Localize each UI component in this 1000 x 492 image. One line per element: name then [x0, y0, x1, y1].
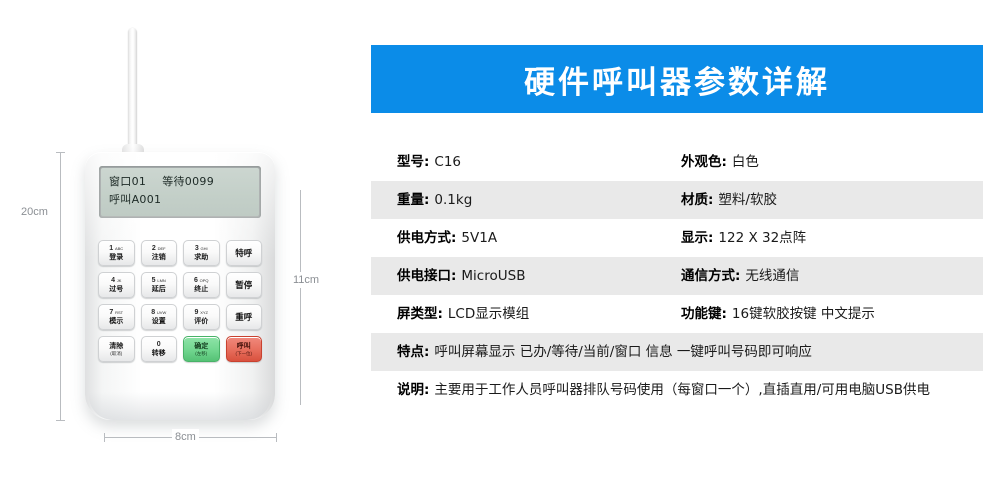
spec-cell-material: 材质:塑料/软胶: [667, 190, 983, 210]
key-letters: UVW: [157, 310, 166, 315]
key-number: 2: [152, 245, 156, 252]
key-top-row: 1 ABC: [109, 245, 123, 253]
table-row: 屏类型:LCD显示模组 功能键:16键软胶按键 中文提示: [371, 295, 983, 333]
spec-key: 外观色: [681, 152, 722, 172]
spec-title-bar: 硬件呼叫器参数详解: [371, 45, 983, 113]
key-label: 设置: [152, 317, 166, 326]
key-confirm[interactable]: 确定 (左移): [183, 336, 220, 362]
page-title: 硬件呼叫器参数详解: [524, 57, 830, 102]
key-number: 3: [195, 245, 199, 252]
table-row: 供电接口:MicroUSB 通信方式:无线通信: [371, 257, 983, 295]
key-0-transfer[interactable]: 0 转移: [141, 336, 178, 362]
key-label: 确定: [194, 342, 208, 351]
dim-depth-line: [300, 190, 301, 405]
key-clear-cancel[interactable]: 清除 (取消): [98, 336, 135, 362]
spec-value: MicroUSB: [461, 266, 525, 286]
key-pause[interactable]: 暂停: [226, 272, 263, 298]
dim-depth-label: 11cm: [290, 272, 322, 288]
spec-cell-power-port: 供电接口:MicroUSB: [371, 266, 667, 286]
key-label: 注销: [152, 253, 166, 262]
spec-cell-model: 型号:C16: [371, 152, 667, 172]
lcd-line-1: 窗口01 等待0099: [109, 173, 251, 191]
key-call-next[interactable]: 呼叫 (下一位): [226, 336, 263, 362]
lcd-waiting-label: 等待0099: [162, 173, 214, 191]
lcd-line-2: 呼叫A001: [109, 191, 251, 209]
spec-colon: :: [438, 304, 443, 324]
spec-colon: :: [735, 266, 740, 286]
dim-height-line: [60, 152, 61, 420]
key-top-row: 6 OPQ: [194, 277, 209, 285]
key-label: 评价: [194, 317, 208, 326]
spec-value: 5V1A: [461, 228, 497, 248]
spec-panel: 硬件呼叫器参数详解 型号:C16 外观色:白色 重量:0.1kg 材质:塑料/软…: [371, 0, 985, 492]
dim-width-cap-right: [276, 433, 277, 442]
key-label: 特呼: [235, 248, 252, 259]
key-top-row: 0: [157, 341, 161, 349]
table-row: 型号:C16 外观色:白色: [371, 143, 983, 181]
spec-colon: :: [708, 228, 713, 248]
key-3-help[interactable]: 3 GHI 求助: [183, 240, 220, 266]
dim-height-cap-bottom: [56, 420, 65, 421]
key-number: 9: [195, 309, 199, 316]
key-number: 8: [151, 309, 155, 316]
key-top-row: 4 JK: [111, 277, 121, 285]
lcd-calling-label: 呼叫A001: [109, 191, 161, 209]
spec-colon: :: [722, 304, 727, 324]
key-label: 暂停: [235, 280, 252, 291]
spec-key: 供电接口: [397, 266, 451, 286]
spec-value: C16: [434, 152, 461, 172]
key-number: 7: [109, 309, 113, 316]
key-label: 求助: [194, 253, 208, 262]
spec-cell-function-keys: 功能键:16键软胶按键 中文提示: [667, 304, 983, 324]
key-letters: GHI: [201, 246, 208, 251]
key-number: 5: [152, 277, 156, 284]
spec-value: 无线通信: [745, 266, 799, 286]
key-letters: OPQ: [200, 278, 209, 283]
key-number: 4: [111, 277, 115, 284]
spec-key: 重量: [397, 190, 424, 210]
key-8-settings[interactable]: 8 UVW 设置: [141, 304, 178, 330]
key-label: 呼叫: [237, 342, 251, 351]
key-special-call[interactable]: 特呼: [226, 240, 263, 266]
spec-colon: :: [451, 228, 456, 248]
spec-colon: :: [424, 152, 429, 172]
spec-value: 122 X 32点阵: [718, 228, 806, 248]
spec-key: 通信方式: [681, 266, 735, 286]
spec-cell-power-mode: 供电方式:5V1A: [371, 228, 667, 248]
spec-key: 材质: [681, 190, 708, 210]
key-sublabel: (左移): [195, 351, 207, 357]
spec-value: 呼叫屏幕显示 已办/等待/当前/窗口 信息 一键呼叫号码即可响应: [434, 342, 812, 362]
spec-value: 塑料/软胶: [718, 190, 777, 210]
key-sublabel: (下一位): [236, 351, 253, 357]
key-label: 登录: [109, 253, 123, 262]
spec-value: 白色: [732, 152, 759, 172]
spec-colon: :: [424, 342, 429, 362]
spec-key: 说明: [397, 380, 424, 400]
key-top-row: 7 RST: [109, 309, 123, 317]
table-row: 特点:呼叫屏幕显示 已办/等待/当前/窗口 信息 一键呼叫号码即可响应: [371, 333, 983, 371]
key-label: 终止: [194, 285, 208, 294]
spec-value: 主要用于工作人员呼叫器排队号码使用（每窗口一个）,直插直用/可用电脑USB供电: [434, 380, 930, 400]
spec-colon: :: [451, 266, 456, 286]
spec-key: 型号: [397, 152, 424, 172]
key-top-row: 5 LMN: [152, 277, 166, 285]
spec-key: 功能键: [681, 304, 722, 324]
key-top-row: 9 XYZ: [195, 309, 208, 317]
key-label: 清除: [109, 342, 123, 351]
spec-cell-screen-type: 屏类型:LCD显示模组: [371, 304, 667, 324]
key-sublabel: (取消): [110, 351, 122, 357]
key-letters: LMN: [157, 278, 165, 283]
key-top-row: 2 DEF: [152, 245, 166, 253]
key-5-postpone[interactable]: 5 LMN 延后: [141, 272, 178, 298]
caller-device: 窗口01 等待0099 呼叫A001 1 ABC 登录 2 DEF: [85, 152, 275, 420]
spec-colon: :: [424, 190, 429, 210]
spec-colon: :: [722, 152, 727, 172]
spec-cell-communication: 通信方式:无线通信: [667, 266, 983, 286]
key-7-display[interactable]: 7 RST 模示: [98, 304, 135, 330]
key-number: 0: [157, 341, 161, 348]
lcd-window-label: 窗口01: [109, 173, 146, 191]
spec-cell-features: 特点:呼叫屏幕显示 已办/等待/当前/窗口 信息 一键呼叫号码即可响应: [371, 342, 983, 362]
spec-colon: :: [708, 190, 713, 210]
spec-key: 显示: [681, 228, 708, 248]
key-6-terminate[interactable]: 6 OPQ 终止: [183, 272, 220, 298]
key-label: 重呼: [235, 312, 252, 323]
table-row: 重量:0.1kg 材质:塑料/软胶: [371, 181, 983, 219]
key-9-rate[interactable]: 9 XYZ 评价: [183, 304, 220, 330]
device-bottom-shade: [89, 392, 271, 420]
key-number: 6: [194, 277, 198, 284]
spec-table: 型号:C16 外观色:白色 重量:0.1kg 材质:塑料/软胶 供电方式:5V1…: [371, 143, 983, 409]
key-1-login[interactable]: 1 ABC 登录: [98, 240, 135, 266]
spec-value: 0.1kg: [434, 190, 472, 210]
spec-key: 特点: [397, 342, 424, 362]
table-row: 说明:主要用于工作人员呼叫器排队号码使用（每窗口一个）,直插直用/可用电脑USB…: [371, 371, 983, 409]
spec-cell-color: 外观色:白色: [667, 152, 983, 172]
spec-key: 供电方式: [397, 228, 451, 248]
dim-width-cap-left: [104, 433, 105, 442]
key-letters: RST: [115, 310, 123, 315]
dim-height-cap-top: [56, 152, 65, 153]
dim-height-label: 20cm: [18, 204, 51, 220]
key-label: 延后: [152, 285, 166, 294]
spec-value: 16键软胶按键 中文提示: [732, 304, 875, 324]
spec-colon: :: [424, 380, 429, 400]
product-photo-panel: 窗口01 等待0099 呼叫A001 1 ABC 登录 2 DEF: [0, 0, 360, 492]
key-4-skip[interactable]: 4 JK 过号: [98, 272, 135, 298]
key-recall[interactable]: 重呼: [226, 304, 263, 330]
keypad: 1 ABC 登录 2 DEF 注销 3 GHI 求助 特呼 4 JK 过号: [98, 240, 262, 362]
table-row: 供电方式:5V1A 显示:122 X 32点阵: [371, 219, 983, 257]
key-letters: JK: [117, 278, 122, 283]
key-letters: XYZ: [200, 310, 208, 315]
lcd-screen: 窗口01 等待0099 呼叫A001: [101, 168, 259, 216]
spec-key: 屏类型: [397, 304, 438, 324]
key-top-row: 8 UVW: [151, 309, 166, 317]
lcd-gap: [146, 173, 162, 191]
key-2-logout[interactable]: 2 DEF 注销: [141, 240, 178, 266]
spec-cell-display: 显示:122 X 32点阵: [667, 228, 983, 248]
spec-cell-description: 说明:主要用于工作人员呼叫器排队号码使用（每窗口一个）,直插直用/可用电脑USB…: [371, 380, 983, 400]
key-label: 转移: [152, 349, 166, 358]
key-top-row: 3 GHI: [195, 245, 208, 253]
key-number: 1: [109, 245, 113, 252]
key-label: 模示: [109, 317, 123, 326]
key-letters: ABC: [115, 246, 123, 251]
antenna-icon: [128, 28, 137, 156]
page-root: 窗口01 等待0099 呼叫A001 1 ABC 登录 2 DEF: [0, 0, 1000, 492]
key-label: 过号: [109, 285, 123, 294]
spec-value: LCD显示模组: [448, 304, 529, 324]
spec-cell-weight: 重量:0.1kg: [371, 190, 667, 210]
dim-width-label: 8cm: [172, 429, 199, 445]
lcd-bezel: 窗口01 等待0099 呼叫A001: [99, 166, 261, 218]
key-letters: DEF: [158, 246, 166, 251]
